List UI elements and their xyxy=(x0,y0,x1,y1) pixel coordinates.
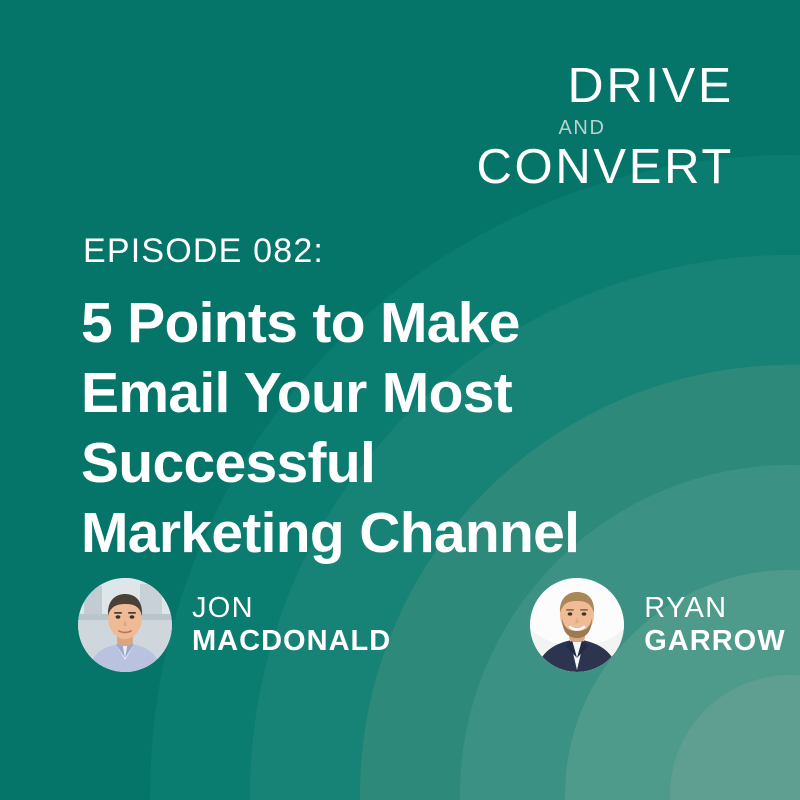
logo-line-drive: DRIVE xyxy=(459,62,734,111)
episode-title-line: 5 Points to Make xyxy=(81,288,731,358)
episode-label: EPISODE 082: xyxy=(83,232,324,271)
host-first-name: RYAN xyxy=(644,593,785,624)
host-first-name: JON xyxy=(192,593,391,624)
podcast-episode-cover: DRIVE AND CONVERT EPISODE 082: 5 Points … xyxy=(0,0,800,800)
host-name: RYAN GARROW xyxy=(644,593,785,656)
episode-title-line: Email Your Most xyxy=(81,358,731,428)
hosts-list: JON MACDONALD xyxy=(78,578,786,672)
host-last-name: MACDONALD xyxy=(192,626,391,657)
avatar xyxy=(530,578,624,672)
episode-title: 5 Points to Make Email Your Most Success… xyxy=(81,288,731,568)
host-last-name: GARROW xyxy=(644,626,785,657)
episode-title-line: Marketing Channel xyxy=(81,498,731,568)
episode-title-line: Successful xyxy=(81,428,731,498)
host-name: JON MACDONALD xyxy=(192,593,391,656)
brand-logo: DRIVE AND CONVERT xyxy=(464,62,734,192)
host-item: RYAN GARROW xyxy=(530,578,785,672)
logo-line-and: AND xyxy=(464,118,700,138)
host-item: JON MACDONALD xyxy=(78,578,391,672)
avatar xyxy=(78,578,172,672)
logo-line-convert: CONVERT xyxy=(464,143,734,192)
